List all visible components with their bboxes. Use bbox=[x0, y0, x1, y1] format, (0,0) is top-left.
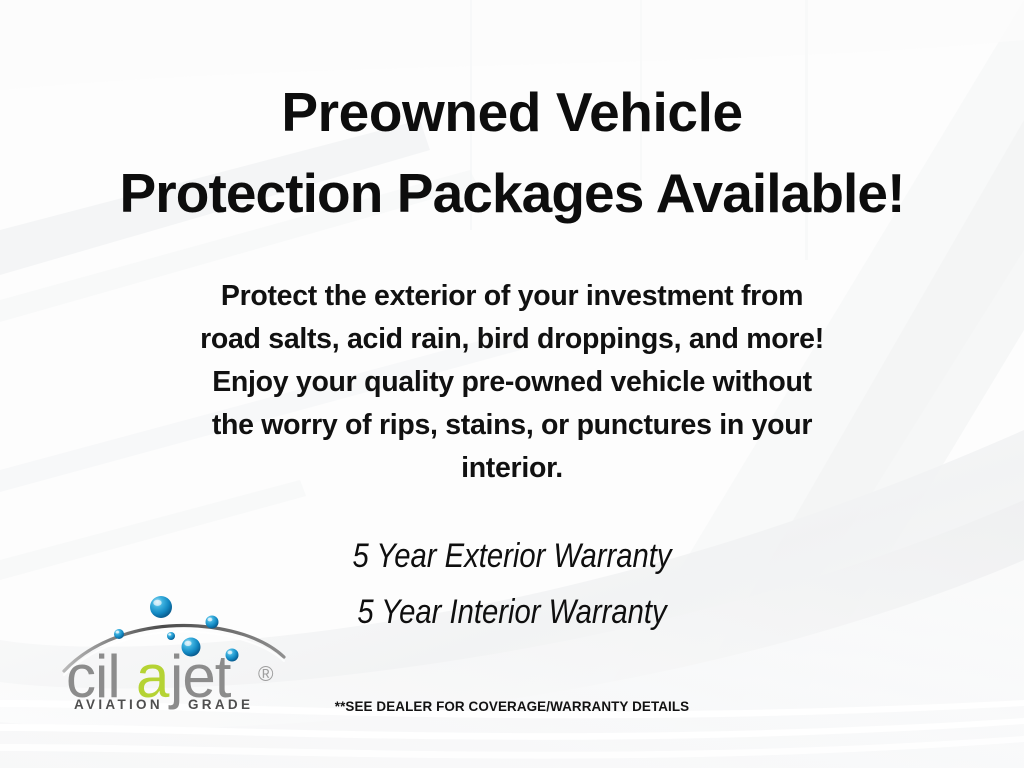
logo-tagline-grade: GRADE bbox=[188, 697, 253, 710]
body-copy: Protect the exterior of your investment … bbox=[0, 275, 1024, 490]
cilajet-logo: cil a jet ® AVIATION GRADE bbox=[60, 585, 292, 710]
body-copy-line-5: interior. bbox=[0, 447, 1024, 490]
body-copy-line-4: the worry of rips, stains, or punctures … bbox=[0, 404, 1024, 447]
water-bead-icon-3 bbox=[114, 629, 124, 639]
body-copy-line-1: Protect the exterior of your investment … bbox=[0, 275, 1024, 318]
headline-line-1: Preowned Vehicle bbox=[0, 72, 1024, 153]
slide-canvas: cil a jet ® AVIATION GRADE Preowned Vehi… bbox=[0, 0, 1024, 768]
warranty-exterior: 5 Year Exterior Warranty bbox=[72, 528, 953, 584]
water-bead-highlight-3 bbox=[116, 631, 120, 634]
water-bead-icon-1 bbox=[150, 596, 172, 618]
water-bead-highlight-2 bbox=[207, 618, 212, 622]
registered-trademark-icon: ® bbox=[258, 663, 274, 686]
water-bead-highlight-1 bbox=[153, 600, 161, 606]
headline-line-2: Protection Packages Available! bbox=[0, 153, 1024, 234]
water-bead-highlight-4 bbox=[168, 633, 171, 635]
headline: Preowned Vehicle Protection Packages Ava… bbox=[0, 72, 1024, 234]
logo-tagline-aviation: AVIATION bbox=[74, 697, 163, 710]
water-bead-icon-4 bbox=[167, 632, 175, 640]
body-copy-line-2: road salts, acid rain, bird droppings, a… bbox=[0, 318, 1024, 361]
body-copy-line-3: Enjoy your quality pre-owned vehicle wit… bbox=[0, 361, 1024, 404]
water-bead-icon-2 bbox=[206, 616, 219, 629]
